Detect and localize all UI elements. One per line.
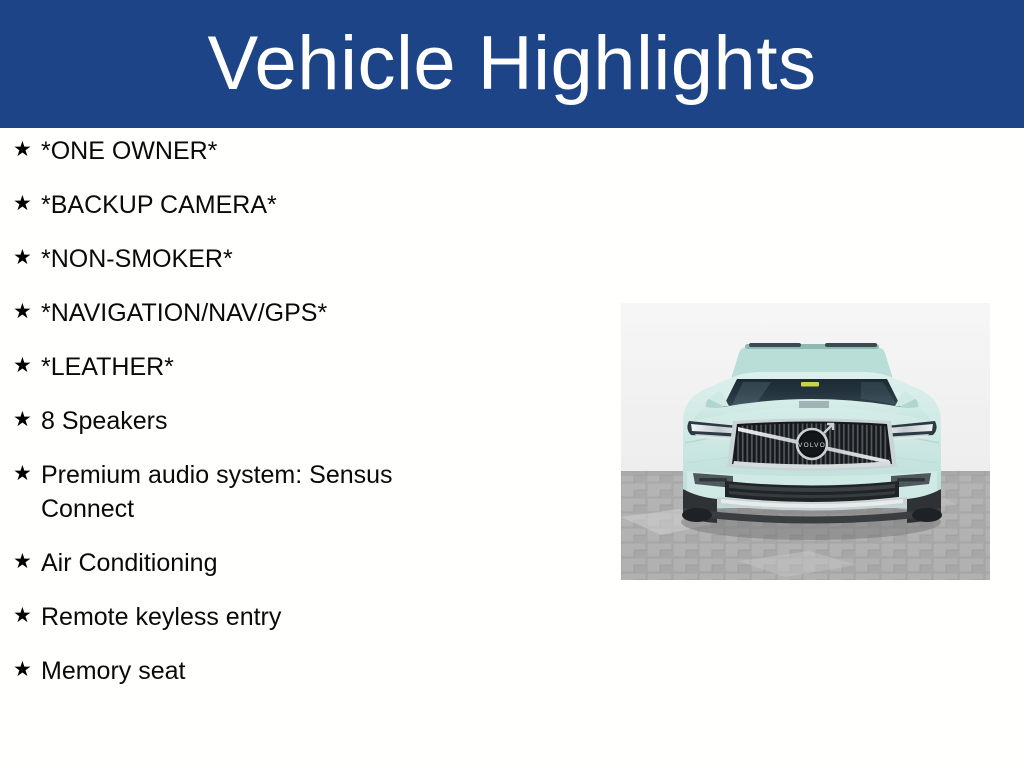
- vehicle-front-photo: VOLVO: [621, 303, 990, 580]
- list-item-label: *BACKUP CAMERA*: [41, 188, 471, 222]
- list-item: ★ *BACKUP CAMERA*: [0, 188, 600, 222]
- list-item-label: Premium audio system: Sensus Connect: [41, 458, 471, 526]
- star-bullet-icon: ★: [13, 546, 41, 578]
- list-item-label: *NAVIGATION/NAV/GPS*: [41, 296, 471, 330]
- star-bullet-icon: ★: [13, 600, 41, 632]
- list-item: ★ *ONE OWNER*: [0, 134, 600, 168]
- list-item: ★ *LEATHER*: [0, 350, 600, 384]
- star-bullet-icon: ★: [13, 654, 41, 686]
- list-item: ★ Air Conditioning: [0, 546, 600, 580]
- star-bullet-icon: ★: [13, 188, 41, 220]
- list-item-label: Remote keyless entry: [41, 600, 471, 634]
- star-bullet-icon: ★: [13, 242, 41, 274]
- star-bullet-icon: ★: [13, 134, 41, 166]
- list-item-label: Air Conditioning: [41, 546, 471, 580]
- header-banner: Vehicle Highlights: [0, 0, 1024, 128]
- list-item: ★ Premium audio system: Sensus Connect: [0, 458, 600, 526]
- list-item: ★ *NON-SMOKER*: [0, 242, 600, 276]
- list-item: ★ 8 Speakers: [0, 404, 600, 438]
- star-bullet-icon: ★: [13, 404, 41, 436]
- list-item-label: Memory seat: [41, 654, 471, 688]
- list-item-label: *ONE OWNER*: [41, 134, 471, 168]
- list-item-label: 8 Speakers: [41, 404, 471, 438]
- page-title: Vehicle Highlights: [208, 26, 817, 102]
- list-item: ★ *NAVIGATION/NAV/GPS*: [0, 296, 600, 330]
- star-bullet-icon: ★: [13, 350, 41, 382]
- list-item-label: *NON-SMOKER*: [41, 242, 471, 276]
- list-item: ★ Memory seat: [0, 654, 600, 688]
- list-item: ★ Remote keyless entry: [0, 600, 600, 634]
- star-bullet-icon: ★: [13, 296, 41, 328]
- star-bullet-icon: ★: [13, 458, 41, 490]
- vehicle-highlights-list: ★ *ONE OWNER* ★ *BACKUP CAMERA* ★ *NON-S…: [0, 134, 600, 708]
- svg-text:VOLVO: VOLVO: [798, 442, 826, 449]
- list-item-label: *LEATHER*: [41, 350, 471, 384]
